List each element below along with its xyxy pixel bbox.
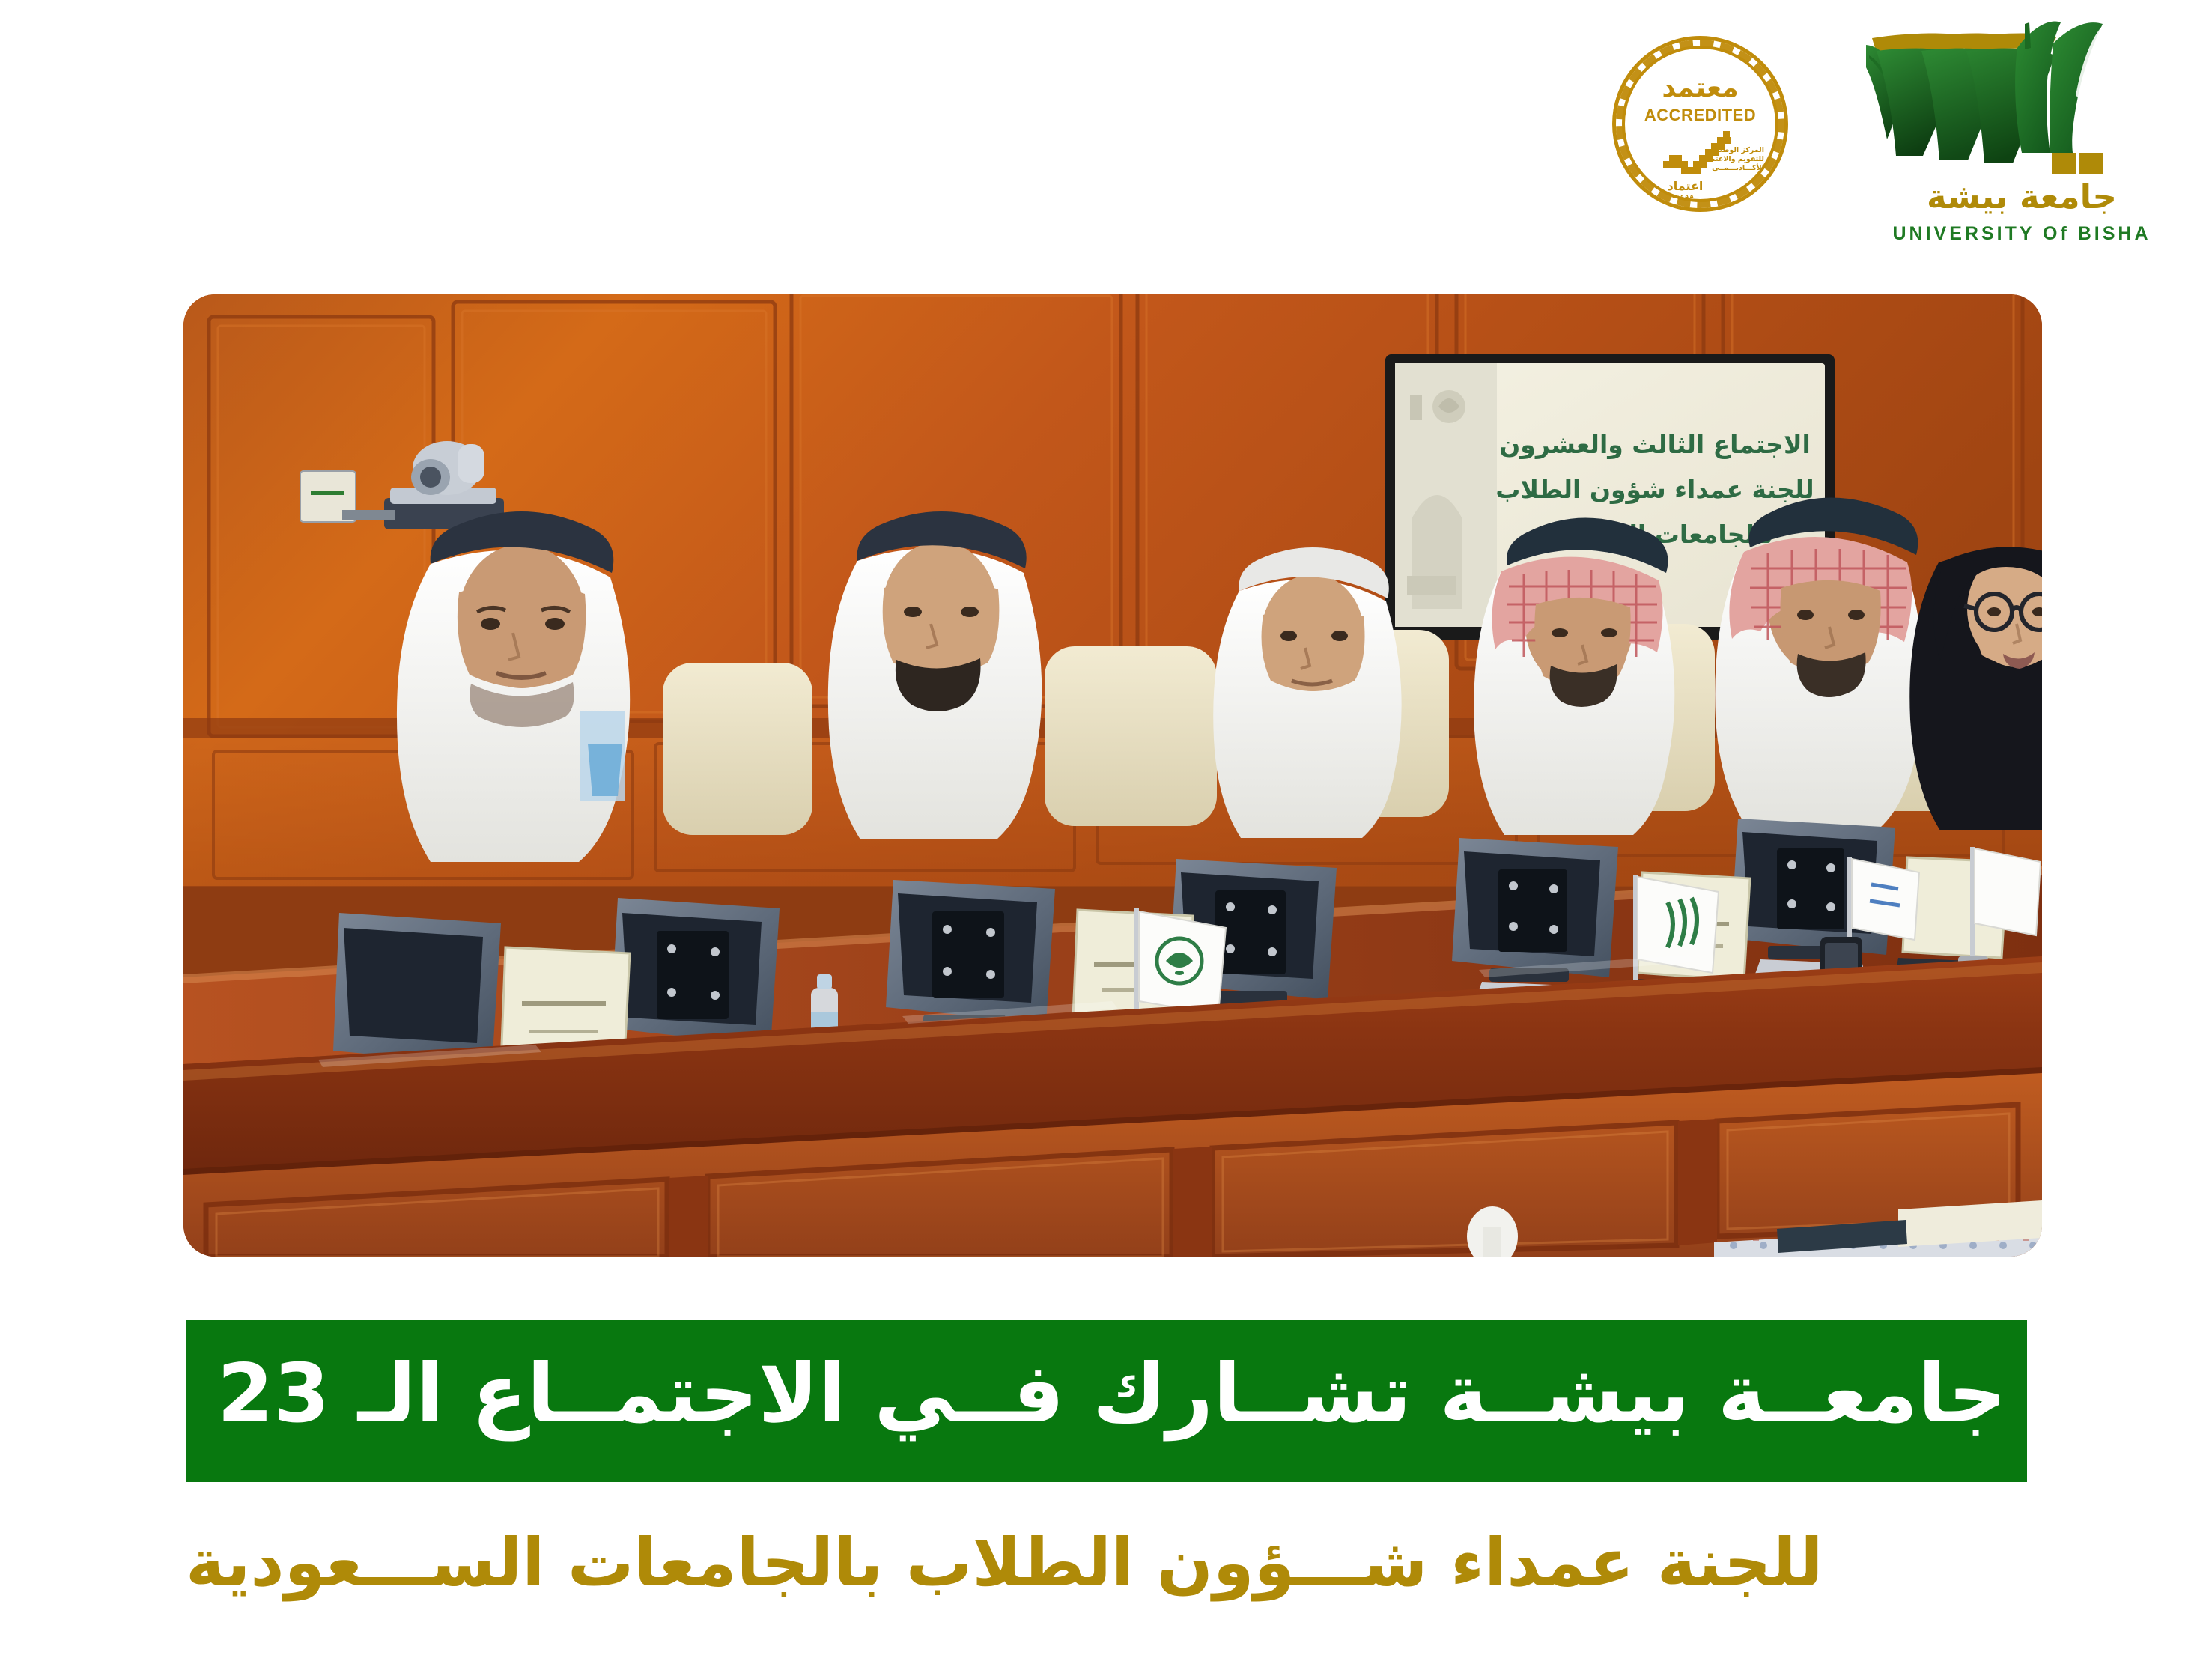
seal-etimad-label: اعتماد [1668, 180, 1704, 192]
page-canvas: معتمد ACCREDITED [0, 0, 2212, 1655]
palm-leaves-icon [1865, 13, 2179, 186]
attendee-6 [1909, 547, 2042, 830]
attendee-2 [828, 511, 1042, 839]
attendee-3 [1213, 547, 1401, 838]
seal-core: معتمد ACCREDITED [1632, 55, 1769, 192]
svg-text:الاجتماع الثالث والعشرون: الاجتماع الثالث والعشرون [1499, 430, 1811, 460]
university-name-arabic: جامعة بيشة [1865, 180, 2179, 213]
svg-text:للجنة عمداء شؤون الطلاب: للجنة عمداء شؤون الطلاب [1495, 475, 1814, 505]
headline-banner: جامعــة بيشــة تشــارك فــي الاجتمــاع ا… [186, 1320, 2027, 1482]
seal-authority-text: المركز الوطني للتقويم والاعتماد الأكـــا… [1704, 146, 1764, 173]
seal-ncaaa-label: NCAAA [1671, 194, 1695, 200]
accreditation-seal: معتمد ACCREDITED [1612, 36, 1788, 212]
seal-arabic-label: معتمد [1662, 75, 1738, 102]
meeting-photograph: الاجتماع الثالث والعشرون للجنة عمداء شؤو… [183, 294, 2042, 1257]
university-of-bisha-logo: جامعة بيشة UNIVERSITY Of BISHA [1865, 13, 2179, 272]
seal-authority-line-2: للتقويم والاعتماد [1704, 155, 1764, 164]
seal-english-label: ACCREDITED [1644, 106, 1756, 125]
headline-title: جامعــة بيشــة تشــارك فــي الاجتمــاع ا… [217, 1354, 2007, 1435]
attendee-1 [397, 511, 630, 862]
university-name-english: UNIVERSITY Of BISHA [1865, 223, 2179, 245]
seal-authority-line-1: المركز الوطني [1704, 146, 1764, 155]
headline-subtitle: للجنة عمداء شـــؤون الطلاب بالجامعات الس… [186, 1507, 1977, 1619]
page-header: معتمد ACCREDITED [0, 0, 2212, 285]
headline-subtitle-text: للجنة عمداء شـــؤون الطلاب بالجامعات الس… [186, 1530, 1823, 1596]
seal-authority-line-3: الأكـــاديـــمــي [1704, 164, 1764, 173]
